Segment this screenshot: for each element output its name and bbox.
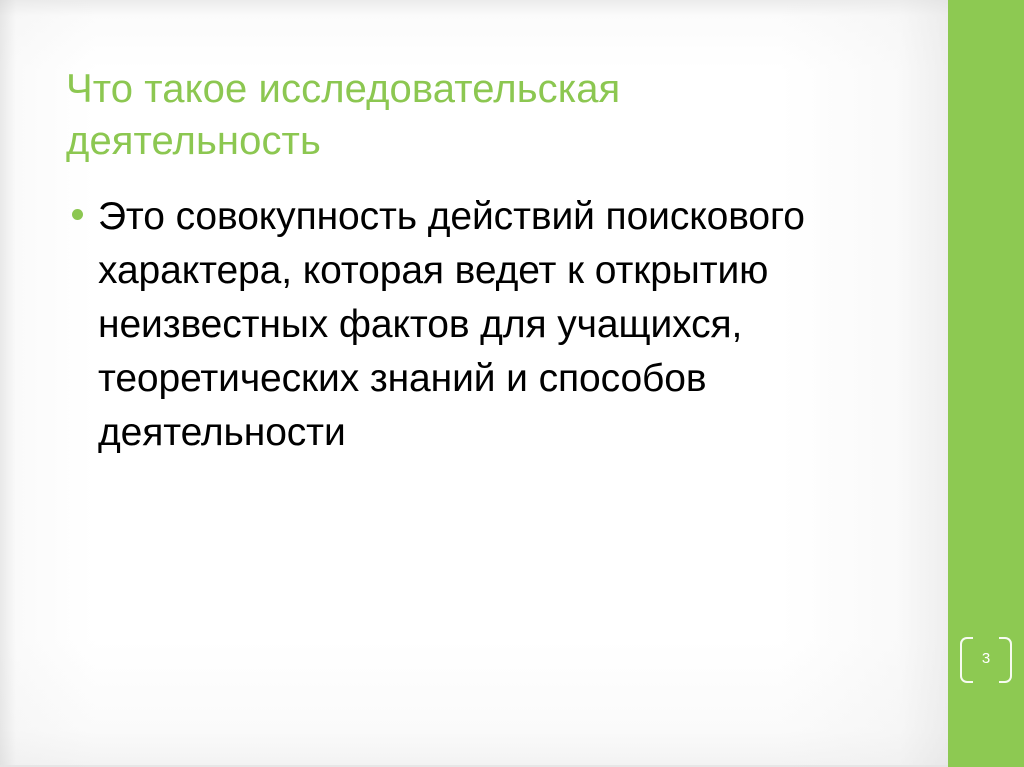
list-item: Это совокупность действий поискового хар… (66, 190, 906, 460)
bracket-right-icon (999, 637, 1012, 683)
slide-body-list: Это совокупность действий поискового хар… (66, 190, 906, 460)
bullet-dot-icon (72, 209, 83, 220)
slide: Что такое исследовательская деятельность… (0, 0, 1024, 767)
slide-number-badge: 3 (958, 633, 1014, 683)
bracket-left-icon (960, 637, 973, 683)
list-item-text: Это совокупность действий поискового хар… (98, 195, 805, 454)
slide-title: Что такое исследовательская деятельность (66, 63, 866, 167)
slide-number-value: 3 (982, 651, 990, 666)
